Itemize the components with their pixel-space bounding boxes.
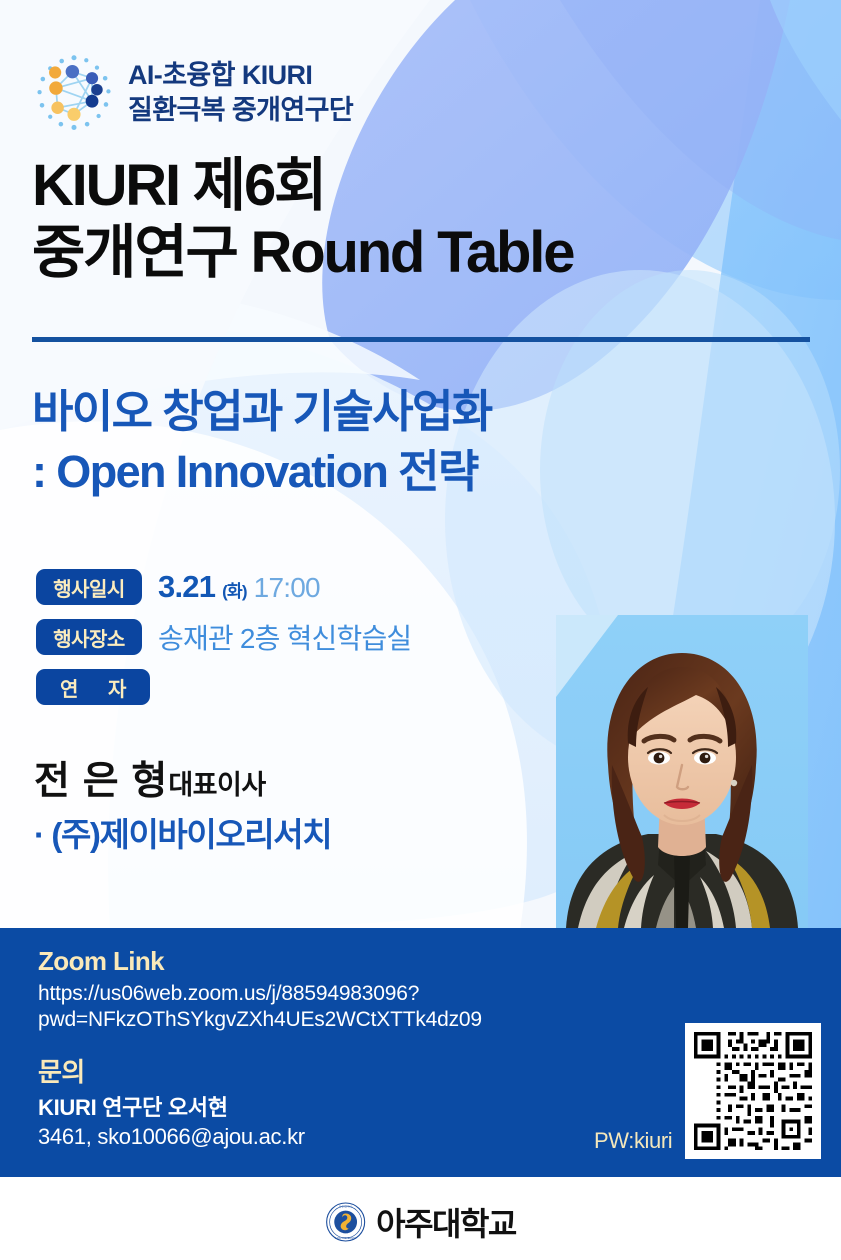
badge-speaker: 연 자 — [36, 669, 150, 705]
event-datetime-value: 3.21 (화) 17:00 — [158, 569, 320, 605]
info-row-datetime: 행사일시 3.21 (화) 17:00 — [36, 568, 556, 606]
subtitle-line-1: 바이오 창업과 기술사업화 — [32, 382, 752, 442]
brand-block: AI-초융합 KIURI 질환극복 중개연구단 — [33, 52, 353, 134]
brand-line-1: AI-초융합 KIURI — [128, 60, 312, 90]
svg-text:아 주 대 학 교: 아 주 대 학 교 — [338, 1204, 352, 1208]
ajou-university-seal-icon: 아 주 대 학 교 AJOU UNIVERSITY 1973 — [325, 1202, 365, 1242]
speaker-name-row: 전 은 형대표이사 — [34, 760, 554, 804]
speaker-name: 전 은 형 — [34, 760, 168, 803]
event-info: 행사일시 3.21 (화) 17:00 행사장소 송재관 2층 혁신학습실 연 … — [36, 568, 556, 718]
event-date: 3.21 — [158, 569, 215, 604]
zoom-password: PW:kiuri — [594, 1128, 672, 1154]
title-line-2: 중개연구 Round Table — [32, 219, 732, 286]
network-nodes-icon — [33, 52, 115, 134]
brand-text: AI-초융합 KIURI 질환극복 중개연구단 — [128, 58, 353, 127]
event-place-value: 송재관 2층 혁신학습실 — [158, 617, 411, 657]
contact-details: KIURI 연구단 오서현 3461, sko10066@ajou.ac.kr — [38, 1093, 558, 1152]
subtitle: 바이오 창업과 기술사업화 : Open Innovation 전략 — [32, 382, 752, 502]
badge-datetime: 행사일시 — [36, 569, 142, 605]
zoom-link-heading: Zoom Link — [38, 946, 558, 977]
zoom-link-url[interactable]: https://us06web.zoom.us/j/88594983096? p… — [38, 981, 558, 1034]
page-title: KIURI 제6회 중개연구 Round Table — [32, 152, 732, 287]
info-row-place: 행사장소 송재관 2층 혁신학습실 — [36, 618, 556, 656]
subtitle-line-2: : Open Innovation 전략 — [32, 442, 752, 502]
svg-text:AJOU UNIVERSITY: AJOU UNIVERSITY — [334, 1237, 356, 1240]
zoom-info-content: Zoom Link https://us06web.zoom.us/j/8859… — [38, 946, 558, 1151]
speaker-role: 대표이사 — [168, 770, 265, 800]
title-divider — [32, 337, 810, 342]
event-weekday: (화) — [222, 582, 247, 601]
speaker-block: 전 은 형대표이사 · (주)제이바이오리서치 — [34, 760, 554, 856]
contact-person: KIURI 연구단 오서현 — [38, 1095, 228, 1120]
contact-heading: 문의 — [38, 1052, 558, 1089]
event-time: 17:00 — [254, 572, 320, 603]
title-line-1: KIURI 제6회 — [32, 152, 732, 219]
poster-root: AI-초융합 KIURI 질환극복 중개연구단 KIURI 제6회 중개연구 R… — [0, 0, 841, 1260]
university-brand: 아 주 대 학 교 AJOU UNIVERSITY 1973 아주대학교 — [325, 1199, 516, 1245]
contact-phone-email: 3461, sko10066@ajou.ac.kr — [38, 1124, 305, 1149]
university-name: 아주대학교 — [376, 1199, 516, 1245]
info-row-speaker: 연 자 — [36, 668, 556, 706]
brand-line-2: 질환극복 중개연구단 — [128, 95, 353, 125]
speaker-portrait — [556, 615, 808, 928]
badge-place: 행사장소 — [36, 619, 142, 655]
zoom-meeting-qr-code[interactable] — [685, 1023, 821, 1159]
speaker-organization: · (주)제이바이오리서치 — [34, 808, 554, 856]
footer: 아 주 대 학 교 AJOU UNIVERSITY 1973 아주대학교 — [0, 1177, 841, 1260]
